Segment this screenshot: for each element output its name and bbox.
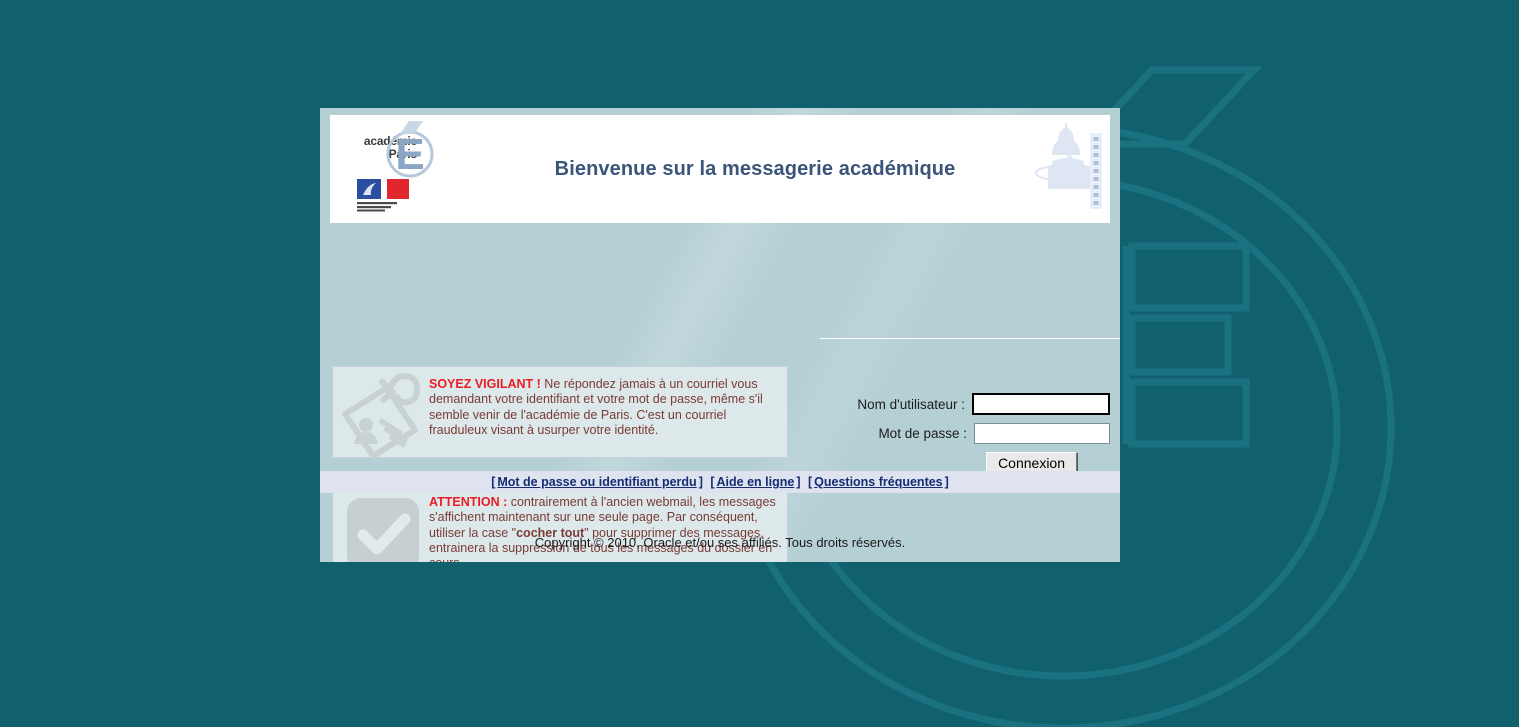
username-row: Nom d'utilisateur : xyxy=(800,393,1110,415)
link-faq[interactable]: Questions fréquentes xyxy=(814,475,943,489)
page-header: académie Paris E Bienvenue sur la messag… xyxy=(330,115,1110,223)
logo-e-accent-icon: E xyxy=(383,121,439,179)
bracket-close-1: ] xyxy=(699,475,703,489)
password-input[interactable] xyxy=(974,423,1110,444)
page-title: Bienvenue sur la messagerie académique xyxy=(475,115,1035,223)
phishing-badge-icon xyxy=(337,370,429,462)
bracket-close-3: ] xyxy=(945,475,949,489)
academie-paris-logo: académie Paris E xyxy=(345,121,445,217)
bracket-open-3: [ xyxy=(808,475,812,489)
notice-phishing: SOYEZ VIGILANT ! Ne répondez jamais à un… xyxy=(332,366,788,458)
sacre-coeur-watermark-icon xyxy=(1028,115,1110,223)
svg-text:E: E xyxy=(395,130,424,179)
link-lost-password[interactable]: Mot de passe ou identifiant perdu xyxy=(497,475,696,489)
username-label: Nom d'utilisateur : xyxy=(857,397,965,412)
username-input[interactable] xyxy=(972,393,1110,415)
bracket-open-1: [ xyxy=(491,475,495,489)
password-row: Mot de passe : xyxy=(800,423,1110,444)
footer-links: [ Mot de passe ou identifiant perdu ] [ … xyxy=(320,471,1120,493)
bracket-close-2: ] xyxy=(796,475,800,489)
bracket-open-2: [ xyxy=(710,475,714,489)
copyright-text: Copyright © 2010, Oracle et/ou ses affil… xyxy=(320,526,1120,559)
link-online-help[interactable]: Aide en ligne xyxy=(717,475,795,489)
login-divider xyxy=(820,338,1120,339)
login-form: Nom d'utilisateur : Mot de passe : Conne… xyxy=(800,393,1110,475)
notice-phishing-lead: SOYEZ VIGILANT ! xyxy=(429,377,541,391)
notice-attention-lead: ATTENTION : xyxy=(429,495,507,509)
login-page-panel: académie Paris E Bienvenue sur la messag… xyxy=(320,108,1120,562)
password-label: Mot de passe : xyxy=(878,426,967,441)
republique-francaise-logo-icon xyxy=(357,179,413,213)
